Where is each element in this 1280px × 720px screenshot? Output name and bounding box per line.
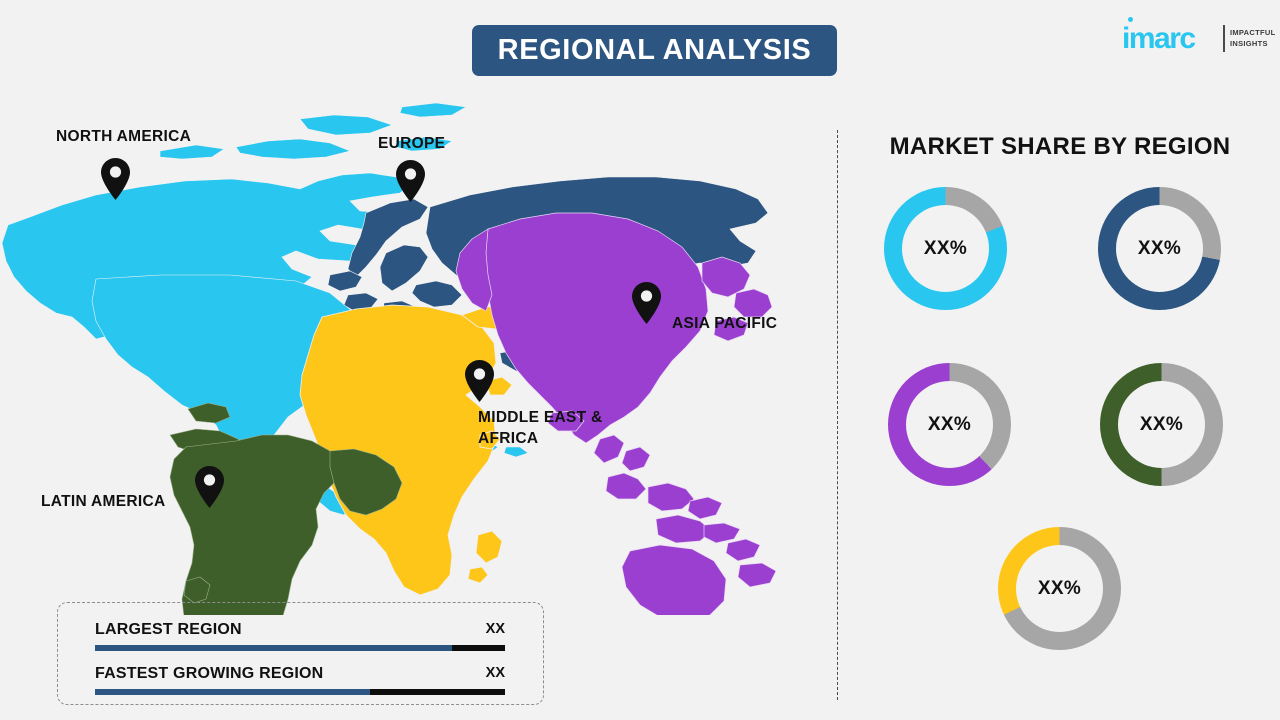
page-title: REGIONAL ANALYSIS <box>498 34 812 67</box>
donut-center: XX% <box>906 381 993 468</box>
logo-tagline: IMPACTFUL INSIGHTS <box>1230 27 1275 49</box>
donut-value: XX% <box>924 238 967 260</box>
legend-progress-track <box>95 645 505 651</box>
donut-value: XX% <box>1138 238 1181 260</box>
section-divider <box>837 130 838 700</box>
map-pin-europe[interactable] <box>396 160 425 207</box>
infographic-canvas: REGIONAL ANALYSIS imarc IMPACTFUL INSIGH… <box>0 0 1280 720</box>
donut-chart-north-america: XX% <box>884 187 1007 310</box>
market-share-title: MARKET SHARE BY REGION <box>855 133 1265 161</box>
donut-value: XX% <box>1038 578 1081 600</box>
donut-chart-middle-east-africa: XX% <box>998 527 1121 650</box>
legend-progress-track <box>95 689 505 695</box>
donut-value: XX% <box>1140 414 1183 436</box>
legend-value: XX <box>486 621 505 637</box>
donut-chart-asia-pacific: XX% <box>888 363 1011 486</box>
donut-center: XX% <box>1118 381 1205 468</box>
map-pin-latin-america[interactable] <box>195 466 224 513</box>
map-label-latin-america: LATIN AMERICA <box>41 491 165 512</box>
legend-progress-fill <box>95 645 452 651</box>
map-pin-asia-pacific[interactable] <box>632 282 661 329</box>
legend-label: FASTEST GROWING REGION <box>95 665 323 683</box>
legend-label: LARGEST REGION <box>95 621 242 639</box>
donut-center: XX% <box>1116 205 1203 292</box>
logo-divider-icon <box>1223 25 1225 52</box>
logo-tagline-line1: IMPACTFUL <box>1230 27 1275 38</box>
page-title-badge: REGIONAL ANALYSIS <box>472 25 837 76</box>
map-label-europe: EUROPE <box>378 133 445 154</box>
map-label-north-america: NORTH AMERICA <box>56 126 191 147</box>
map-pin-north-america[interactable] <box>101 158 130 205</box>
imarc-logo: imarc IMPACTFUL INSIGHTS <box>1122 22 1267 58</box>
map-label-middle-east-africa: MIDDLE EAST & AFRICA <box>478 407 602 449</box>
donut-chart-latin-america: XX% <box>1100 363 1223 486</box>
donut-center: XX% <box>1016 545 1103 632</box>
donut-chart-europe: XX% <box>1098 187 1221 310</box>
donut-value: XX% <box>928 414 971 436</box>
map-label-asia-pacific: ASIA PACIFIC <box>672 313 777 334</box>
logo-wordmark: imarc <box>1122 24 1195 54</box>
logo-tagline-line2: INSIGHTS <box>1230 38 1275 49</box>
donut-center: XX% <box>902 205 989 292</box>
legend-box: LARGEST REGION XX FASTEST GROWING REGION… <box>57 602 544 705</box>
map-pin-middle-east-africa[interactable] <box>465 360 494 407</box>
legend-value: XX <box>486 665 505 681</box>
legend-progress-fill <box>95 689 370 695</box>
